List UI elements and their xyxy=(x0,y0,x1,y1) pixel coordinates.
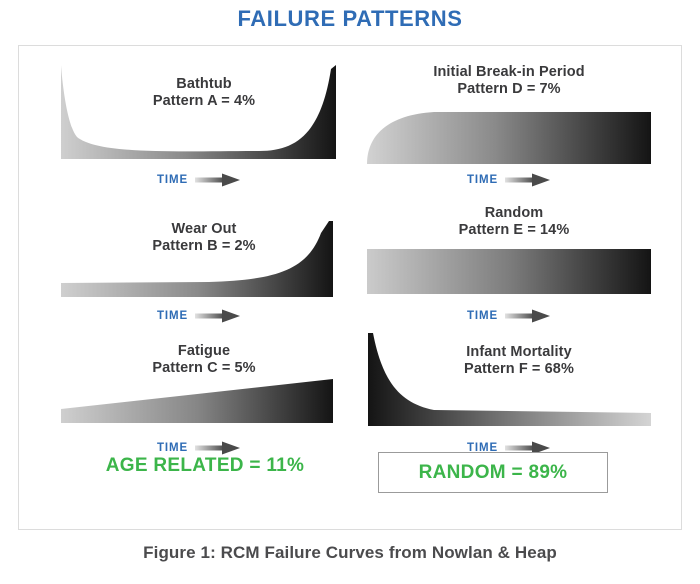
panel-pattern-d: Initial Break-in Period Pattern D = 7% T… xyxy=(364,63,654,198)
curve-random-band xyxy=(364,247,654,297)
time-axis-e: TIME xyxy=(424,306,594,326)
panel-pattern-e: Random Pattern E = 14% TIME xyxy=(364,199,654,334)
panel-d-label: Initial Break-in Period Pattern D = 7% xyxy=(399,64,619,98)
time-label: TIME xyxy=(467,310,498,322)
time-label: TIME xyxy=(157,174,188,186)
random-summary-text: RANDOM = 89% xyxy=(419,462,568,484)
curve-break-in xyxy=(364,107,654,168)
panel-e-label: Random Pattern E = 14% xyxy=(424,205,604,239)
random-summary-box: RANDOM = 89% xyxy=(378,452,608,493)
arrow-right-icon xyxy=(195,173,241,187)
time-axis-a: TIME xyxy=(114,170,284,190)
panel-pattern-f: Infant Mortality Pattern F = 68% TIME xyxy=(364,331,654,466)
panel-pattern-a: Bathtub Pattern A = 4% TIME xyxy=(59,63,339,198)
arrow-right-icon xyxy=(505,309,551,323)
arrow-right-icon xyxy=(505,173,551,187)
time-label: TIME xyxy=(157,442,188,454)
arrow-right-icon xyxy=(195,441,241,455)
time-axis-d: TIME xyxy=(424,170,594,190)
arrow-right-icon xyxy=(195,309,241,323)
curve-fatigue xyxy=(59,373,339,431)
panel-b-label: Wear Out Pattern B = 2% xyxy=(114,221,294,255)
panel-a-label: Bathtub Pattern A = 4% xyxy=(119,76,289,110)
page-title: FAILURE PATTERNS xyxy=(0,6,700,32)
panel-pattern-b: Wear Out Pattern B = 2% TIME xyxy=(59,199,339,334)
figure-caption: Figure 1: RCM Failure Curves from Nowlan… xyxy=(0,543,700,563)
time-label: TIME xyxy=(157,310,188,322)
panel-c-label: Fatigue Pattern C = 5% xyxy=(114,343,294,377)
age-related-summary: AGE RELATED = 11% xyxy=(60,455,350,477)
time-axis-b: TIME xyxy=(114,306,284,326)
panel-f-label: Infant Mortality Pattern F = 68% xyxy=(419,344,619,378)
panel-pattern-c: Fatigue Pattern C = 5% TIME xyxy=(59,331,339,466)
time-label: TIME xyxy=(467,174,498,186)
